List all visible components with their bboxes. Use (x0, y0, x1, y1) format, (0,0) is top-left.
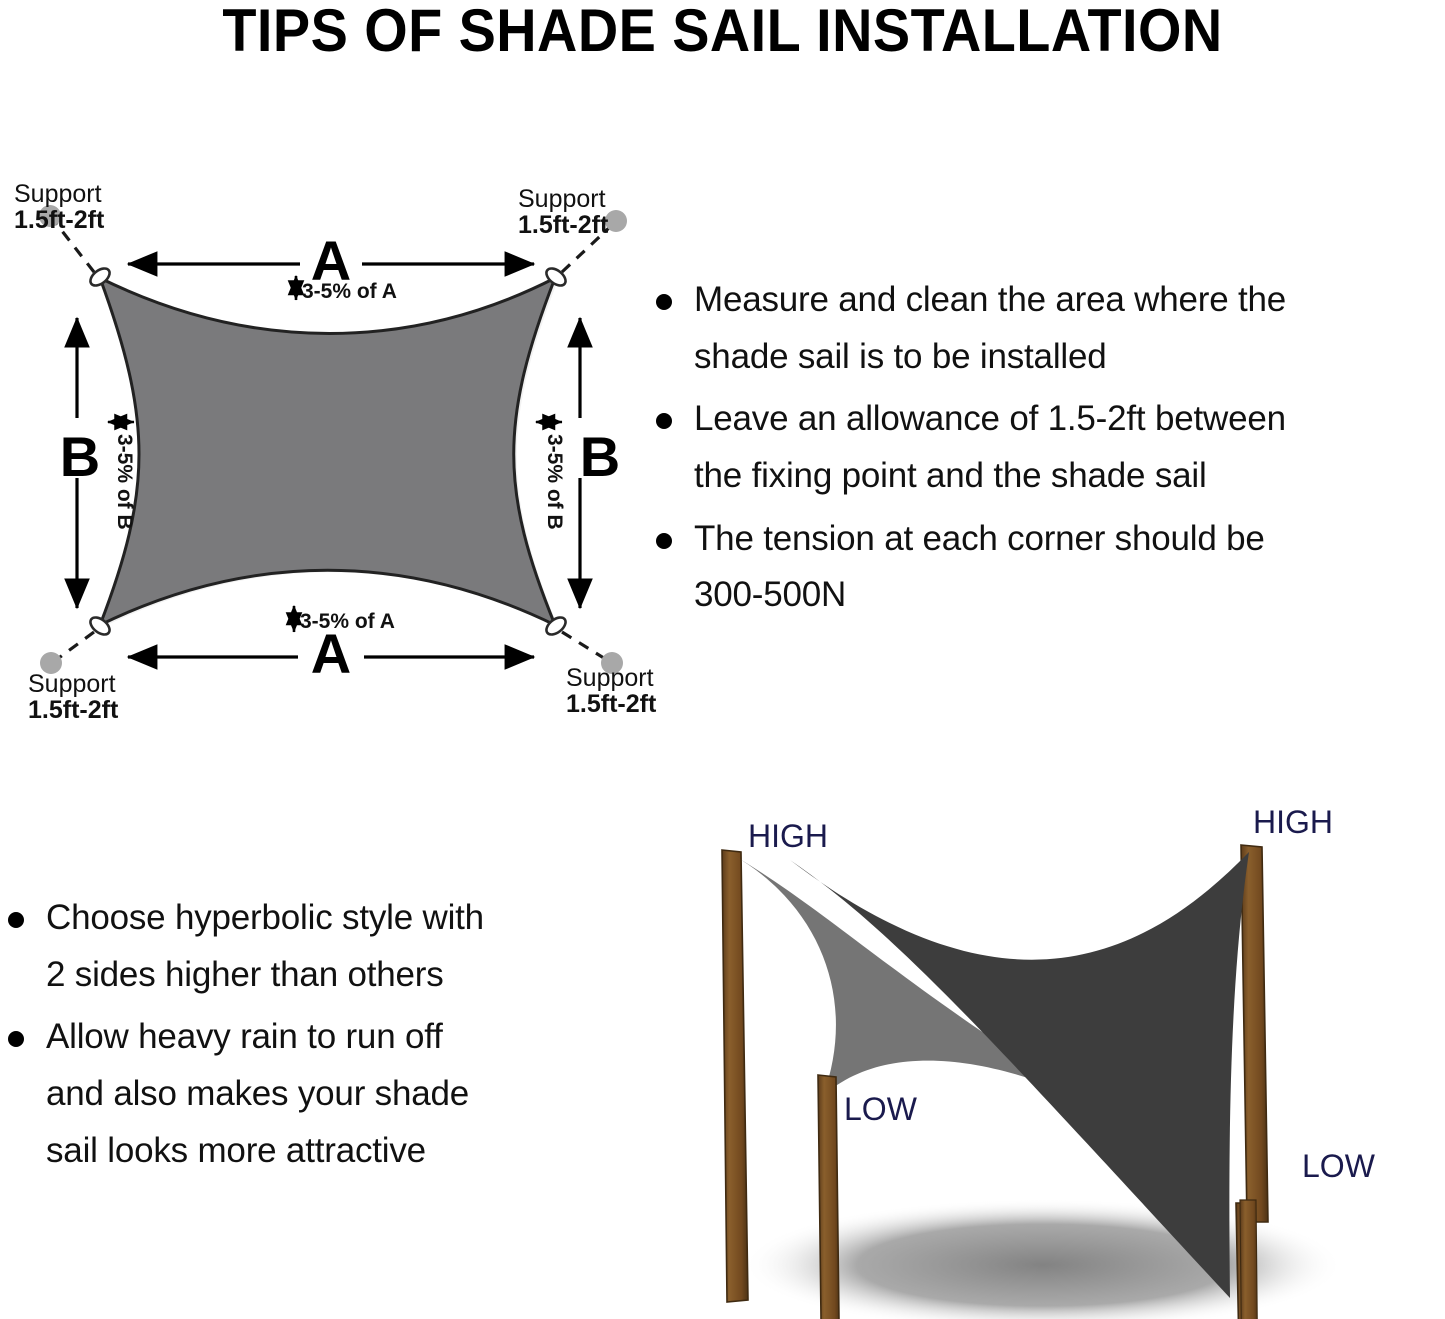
tip-line: 300-500N (694, 567, 1445, 624)
support-tether-lines (55, 222, 611, 660)
support-label-bottom-left-line1: Support (28, 670, 116, 698)
tip-item: The tension at each corner should be 300… (648, 511, 1445, 624)
curvature-note-left: 3-5% of B (113, 434, 136, 530)
label-high-right: HIGH (1253, 804, 1333, 840)
support-anchor-dots (39, 205, 627, 674)
post-5-support (1240, 1200, 1258, 1319)
tip-line: Allow heavy rain to run off (46, 1009, 620, 1066)
support-label-bottom-right-line2: 1.5ft-2ft (566, 690, 657, 718)
tip-line: Leave an allowance of 1.5-2ft between (694, 391, 1445, 448)
tips-list-right: Measure and clean the area where the sha… (648, 272, 1445, 630)
label-low-right: LOW (1302, 1148, 1376, 1184)
support-label-top-right-line2: 1.5ft-2ft (518, 211, 609, 239)
tip-line: and also makes your shade (46, 1066, 620, 1123)
post-4-low (1236, 1203, 1258, 1319)
support-label-bottom-left-line2: 1.5ft-2ft (28, 696, 119, 724)
tip-item: Measure and clean the area where the sha… (648, 272, 1445, 385)
dimension-label-b-right: B (580, 425, 620, 488)
post-2-high (1241, 845, 1268, 1222)
sail-body (100, 278, 555, 625)
sail-panel-light (733, 855, 1095, 1105)
support-label-top-left-line1: Support (14, 180, 102, 208)
ground-shadow (743, 1199, 1343, 1319)
tip-line: the fixing point and the shade sail (694, 448, 1445, 505)
dimension-label-b-left: B (60, 425, 100, 488)
tip-item: Leave an allowance of 1.5-2ft between th… (648, 391, 1445, 504)
support-label-bottom-right-line1: Support (566, 664, 654, 692)
dimension-label-a-top: A (311, 229, 351, 292)
curvature-note-top: 3-5% of A (302, 280, 397, 303)
tip-line: Choose hyperbolic style with (46, 890, 620, 947)
tip-line: Measure and clean the area where the (694, 272, 1445, 329)
support-label-top-left-line2: 1.5ft-2ft (14, 206, 105, 234)
post-3-low (818, 1075, 840, 1319)
sail-halo (103, 280, 558, 627)
curvature-note-right: 3-5% of B (543, 434, 566, 530)
tip-line: 2 sides higher than others (46, 947, 620, 1004)
tip-item: Allow heavy rain to run off and also mak… (0, 1009, 620, 1179)
tip-line: sail looks more attractive (46, 1123, 620, 1180)
page-title: TIPS OF SHADE SAIL INSTALLATION (51, 0, 1395, 62)
tips-list-bottom: Choose hyperbolic style with 2 sides hig… (0, 890, 620, 1185)
label-high-left: HIGH (748, 818, 828, 854)
tip-item: Choose hyperbolic style with 2 sides hig… (0, 890, 620, 1003)
curvature-note-bottom: 3-5% of A (300, 610, 395, 633)
label-low-left: LOW (844, 1091, 918, 1127)
support-label-top-right-line1: Support (518, 185, 606, 213)
sail-panel-dark (790, 852, 1249, 1298)
tip-line: The tension at each corner should be (694, 511, 1445, 568)
infographic-page: TIPS OF SHADE SAIL INSTALLATION (0, 0, 1445, 1319)
tip-line: shade sail is to be installed (694, 329, 1445, 386)
dimension-label-a-bottom: A (311, 622, 351, 685)
post-1-high (722, 850, 748, 1302)
sail-grommets (87, 265, 568, 638)
